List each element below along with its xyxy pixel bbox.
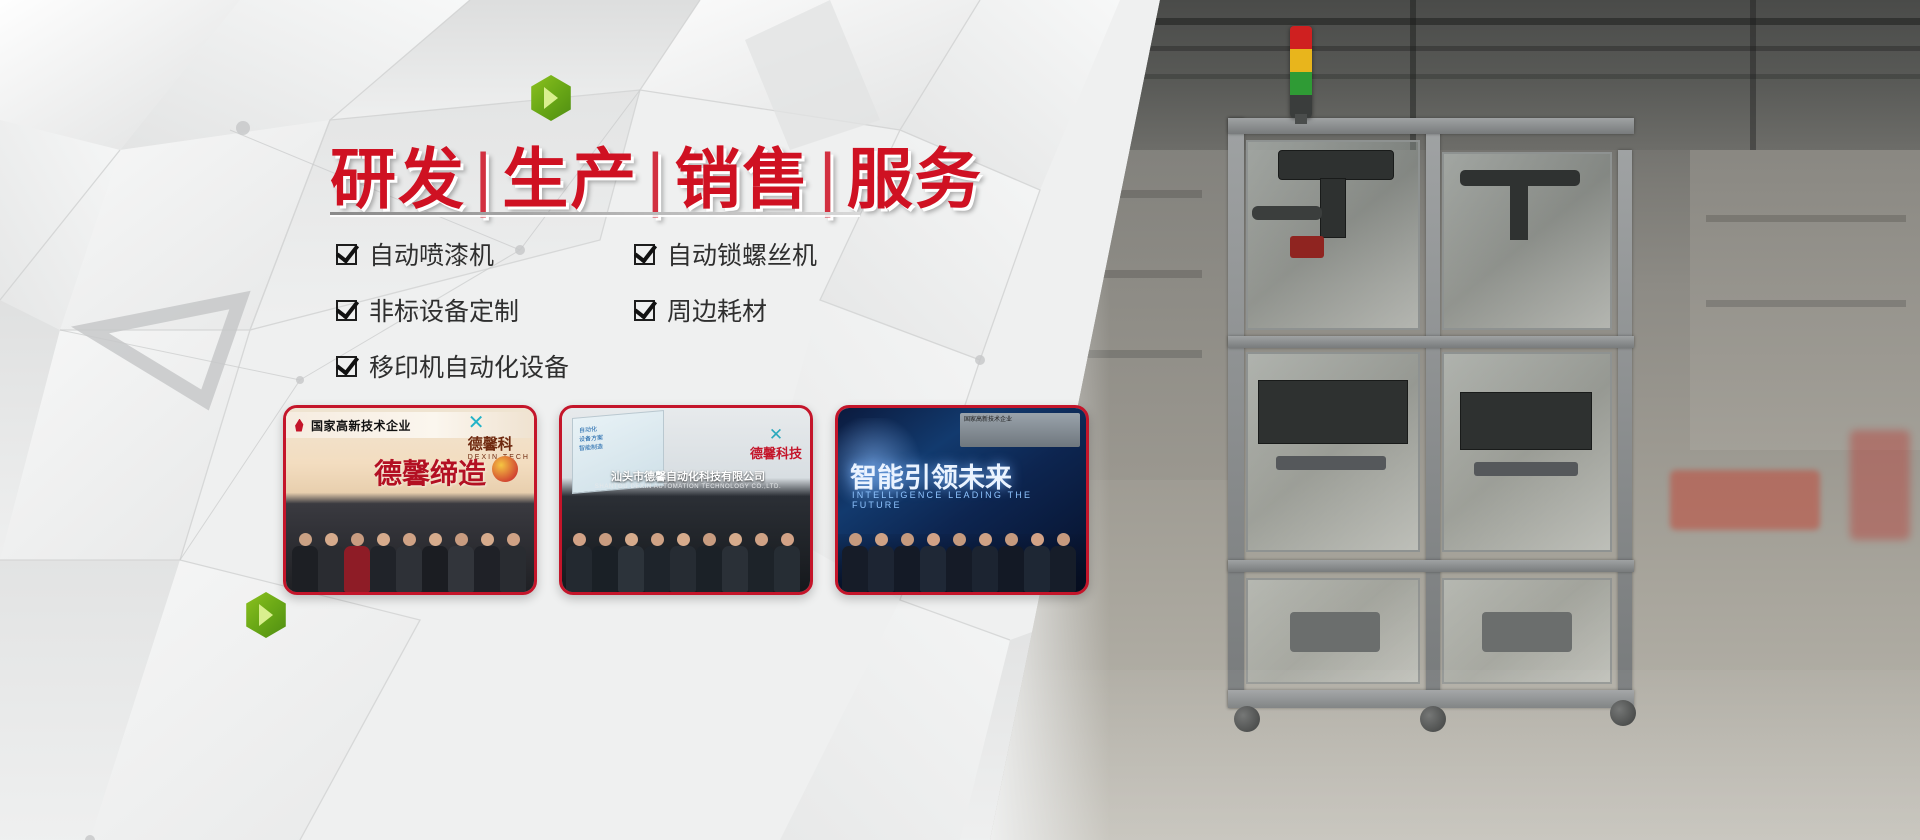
- headline-separator: |: [638, 141, 674, 218]
- feature-list: 自动喷漆机 自动锁螺丝机 非标设备定制 周边耗材 移印机自动化设备: [336, 236, 896, 384]
- award-group-photo[interactable]: 国家高新技术企业 ✕ 德馨科 DEXIN TECH 德馨缔造: [283, 405, 537, 595]
- checkbox-checked-icon: [336, 244, 357, 265]
- checkbox-checked-icon: [336, 300, 357, 321]
- checkbox-checked-icon: [634, 300, 655, 321]
- list-item: 自动锁螺丝机: [634, 236, 896, 272]
- feature-label: 非标设备定制: [369, 292, 519, 328]
- brand-name-cn: 德馨科技: [750, 443, 802, 462]
- checkbox-checked-icon: [336, 356, 357, 377]
- exhibition-booth-photo[interactable]: 自动化设备方案智能制造 ✕ 德馨科技 汕头市德馨自动化科技有限公司 SHANTO…: [559, 405, 813, 595]
- feature-label: 自动锁螺丝机: [667, 236, 817, 272]
- list-item: 自动喷漆机: [336, 236, 598, 272]
- banner-content: 研发|生产|销售|服务 自动喷漆机 自动锁螺丝机 非标设备定制 周边耗材: [0, 0, 1010, 840]
- brand-name-cn: 德馨科: [468, 433, 530, 454]
- list-item: 周边耗材: [634, 292, 896, 328]
- list-item: 移印机自动化设备: [336, 348, 598, 384]
- feature-label: 移印机自动化设备: [369, 348, 569, 384]
- checkbox-checked-icon: [634, 244, 655, 265]
- headline-segment-2: 生产: [502, 141, 638, 218]
- group-of-people: [838, 506, 1086, 592]
- award-script-text: 德馨缔造: [374, 452, 486, 492]
- green-hexagon-play-icon: [243, 592, 289, 638]
- group-of-people: [562, 506, 810, 592]
- dexin-mark-icon: ✕: [750, 426, 802, 443]
- green-hexagon-play-icon: [528, 75, 574, 121]
- decorative-ball: [492, 456, 518, 482]
- company-name-cn: 汕头市德馨自动化科技有限公司: [576, 468, 800, 484]
- headline-segment-1: 研发: [330, 141, 466, 218]
- list-item: 非标设备定制: [336, 292, 598, 328]
- group-of-people: [286, 506, 534, 592]
- headline-separator: |: [466, 141, 502, 218]
- photo-gallery: 国家高新技术企业 ✕ 德馨科 DEXIN TECH 德馨缔造: [283, 405, 1089, 595]
- dexin-mark-icon: ✕: [468, 413, 530, 433]
- conference-stage-photo[interactable]: 国家高新技术企业 智能引领未来 INTELLIGENCE LEADING THE…: [835, 405, 1089, 595]
- booth-poster-text: 自动化设备方案智能制造: [579, 424, 603, 453]
- feature-label: 自动喷漆机: [369, 236, 494, 272]
- headline-separator: |: [811, 141, 847, 218]
- flame-icon: [294, 419, 305, 432]
- hero-banner: 研发|生产|销售|服务 自动喷漆机 自动锁螺丝机 非标设备定制 周边耗材: [0, 0, 1920, 840]
- feature-label: 周边耗材: [667, 292, 767, 328]
- divider: [330, 212, 860, 215]
- award-plaque: 国家高新技术企业: [960, 413, 1080, 447]
- company-name-en: SHANTOU DEXIN AUTOMATION TECHNOLOGY CO.,…: [576, 484, 800, 490]
- page-title: 研发|生产|销售|服务: [330, 126, 983, 222]
- plaque-text: 国家高新技术企业: [964, 417, 1012, 423]
- award-badge-text: 国家高新技术企业: [311, 417, 411, 434]
- status-light-tower: [1290, 26, 1312, 118]
- headline-segment-4: 服务: [847, 141, 983, 218]
- brand-logo: ✕ 德馨科技: [750, 426, 802, 462]
- headline-segment-3: 销售: [675, 141, 811, 218]
